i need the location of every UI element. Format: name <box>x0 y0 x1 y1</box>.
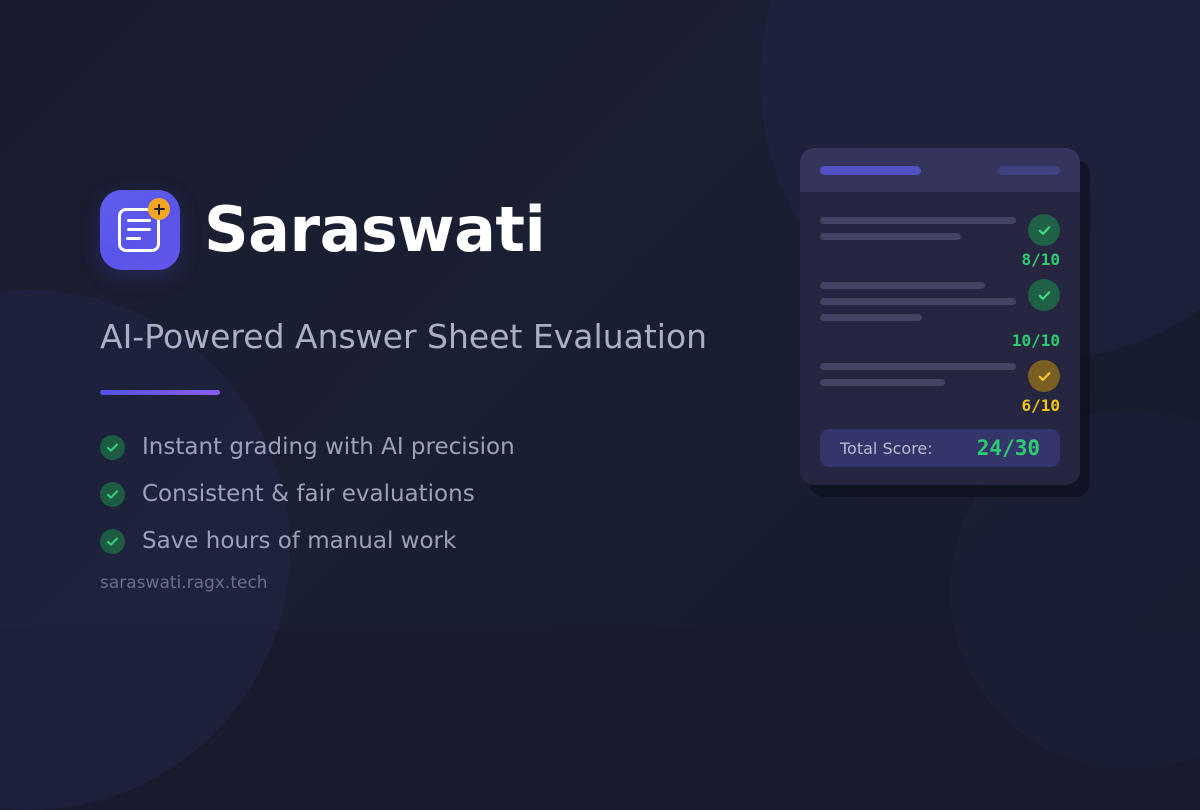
brand: Saraswati <box>100 190 740 270</box>
document-line-2 <box>127 228 151 231</box>
total-score-bar: Total Score: 24/30 <box>820 429 1060 467</box>
skeleton-line <box>820 298 1016 305</box>
list-item: Instant grading with AI precision <box>100 435 740 460</box>
evaluation-row-top <box>820 360 1060 395</box>
status-badge <box>1028 360 1060 392</box>
skeleton-line <box>820 379 945 386</box>
footer-url: saraswati.ragx.tech <box>100 573 268 593</box>
row-score: 8/10 <box>820 250 1060 269</box>
document-line-1 <box>127 219 151 222</box>
list-item: Save hours of manual work <box>100 529 740 554</box>
answer-skeleton <box>820 279 1016 330</box>
feature-label: Instant grading with AI precision <box>142 436 515 459</box>
evaluation-row-top <box>820 214 1060 249</box>
answer-skeleton <box>820 360 1016 395</box>
document-line-3 <box>126 237 141 240</box>
skeleton-line <box>820 363 1016 370</box>
evaluation-row-top <box>820 279 1060 330</box>
check-circle-icon <box>100 529 125 554</box>
total-score-value: 24/30 <box>977 436 1040 460</box>
hero-subtitle: AI-Powered Answer Sheet Evaluation <box>100 318 740 356</box>
feature-label: Save hours of manual work <box>142 530 456 553</box>
feature-list: Instant grading with AI precision Consis… <box>100 435 740 554</box>
evaluation-row: 6/10 <box>820 360 1060 415</box>
feature-label: Consistent & fair evaluations <box>142 483 475 506</box>
skeleton-line <box>820 217 1016 224</box>
evaluation-row: 10/10 <box>820 279 1060 350</box>
header-placeholder-bar-secondary <box>998 166 1060 175</box>
skeleton-line <box>820 314 922 321</box>
page-title: Saraswati <box>204 199 545 261</box>
plus-icon <box>148 198 170 220</box>
row-score: 10/10 <box>820 331 1060 350</box>
check-circle-icon <box>100 482 125 507</box>
skeleton-line <box>820 233 961 240</box>
total-score-label: Total Score: <box>840 439 933 458</box>
evaluation-card: 8/10 10/10 <box>800 148 1080 485</box>
status-badge <box>1028 214 1060 246</box>
status-badge <box>1028 279 1060 311</box>
evaluation-row: 8/10 <box>820 214 1060 269</box>
page-stage: Saraswati AI-Powered Answer Sheet Evalua… <box>0 0 1200 630</box>
accent-divider <box>100 390 220 395</box>
row-score: 6/10 <box>820 396 1060 415</box>
card-body: 8/10 10/10 <box>800 192 1080 485</box>
hero-content: Saraswati AI-Powered Answer Sheet Evalua… <box>100 190 740 554</box>
check-circle-icon <box>100 435 125 460</box>
card-header <box>800 148 1080 192</box>
header-placeholder-bar-primary <box>820 166 921 175</box>
answer-skeleton <box>820 214 1016 249</box>
document-plus-icon <box>100 190 180 270</box>
list-item: Consistent & fair evaluations <box>100 482 740 507</box>
skeleton-line <box>820 282 985 289</box>
